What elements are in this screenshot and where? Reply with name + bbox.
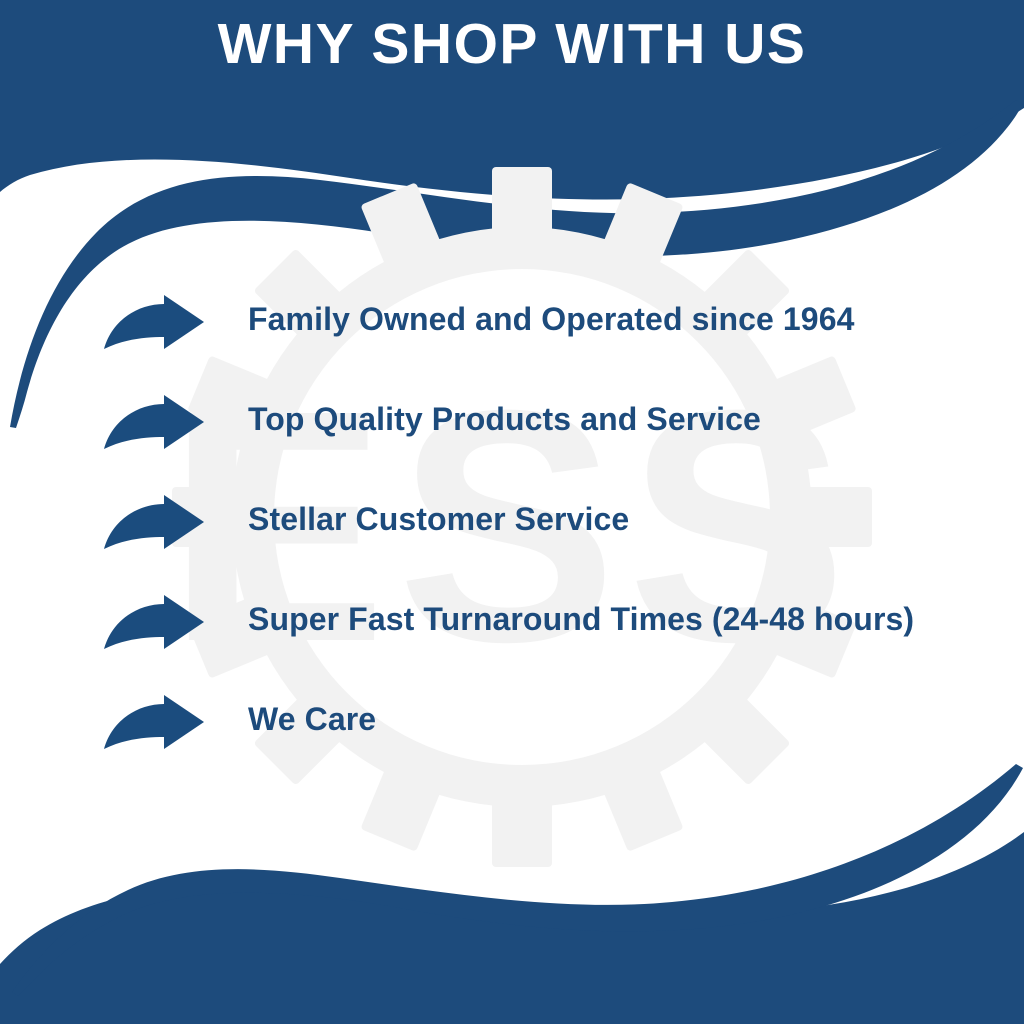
list-item-label: Super Fast Turnaround Times (24-48 hours…	[248, 588, 914, 650]
list-item-label: Family Owned and Operated since 1964	[248, 288, 855, 350]
curved-arrow-right-icon	[102, 694, 206, 756]
list-item: Top Quality Products and Service	[0, 388, 1024, 488]
curved-arrow-right-icon	[102, 494, 206, 556]
list-item-label: Top Quality Products and Service	[248, 388, 761, 450]
curved-arrow-right-icon	[102, 594, 206, 656]
list-item: Family Owned and Operated since 1964	[0, 288, 1024, 388]
curved-arrow-right-icon	[102, 294, 206, 356]
list-item: We Care	[0, 688, 1024, 788]
page-title: WHY SHOP WITH US	[0, 16, 1024, 73]
list-item-label: We Care	[248, 688, 376, 750]
curved-arrow-right-icon	[102, 394, 206, 456]
benefits-list: Family Owned and Operated since 1964 Top…	[0, 288, 1024, 788]
list-item: Super Fast Turnaround Times (24-48 hours…	[0, 588, 1024, 688]
list-item: Stellar Customer Service	[0, 488, 1024, 588]
content-layer: WHY SHOP WITH US Family Owned and Operat…	[0, 0, 1024, 1024]
list-item-label: Stellar Customer Service	[248, 488, 629, 550]
promo-banner: ESS WHY SHOP WITH US Family Owned and Op…	[0, 0, 1024, 1024]
